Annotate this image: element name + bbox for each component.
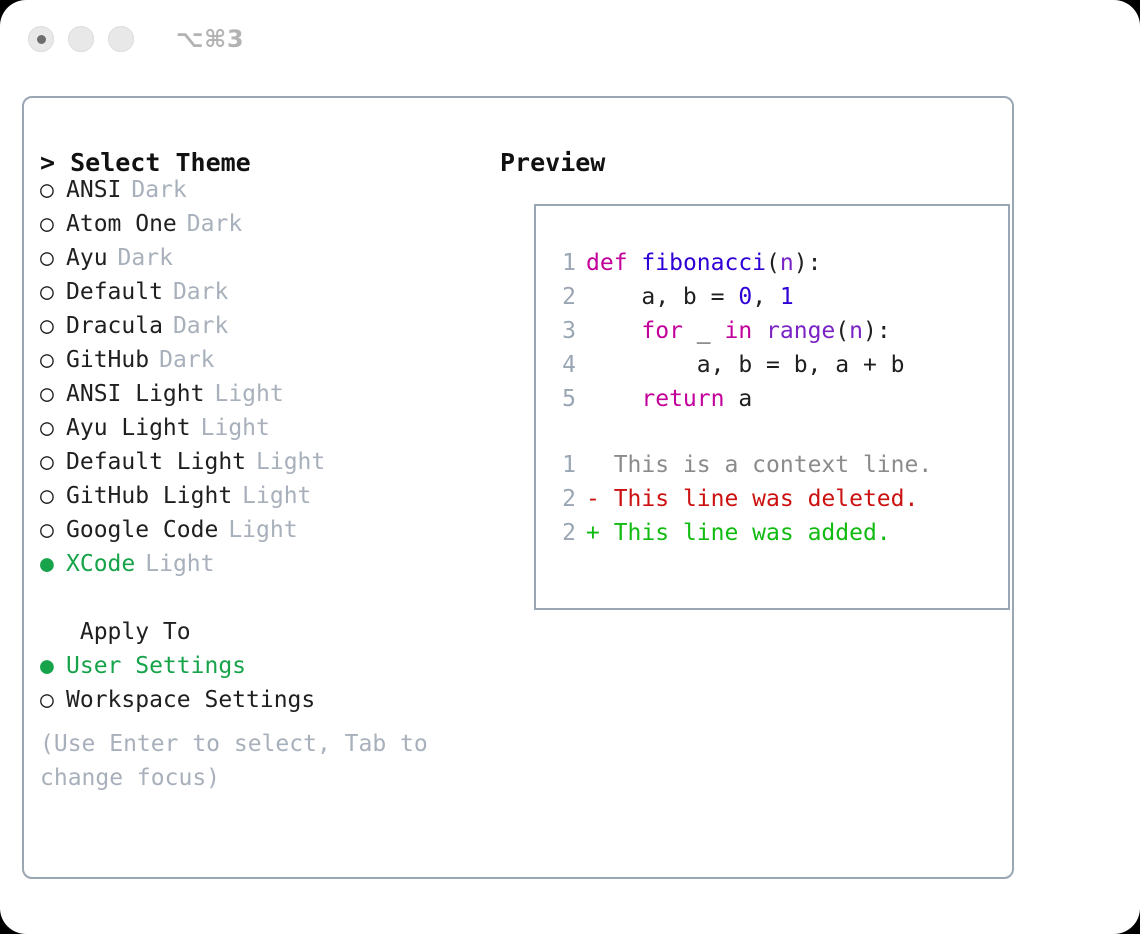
theme-kind-badge: Dark <box>173 279 228 305</box>
radio-selected-icon: ● <box>40 551 66 577</box>
theme-list-item[interactable]: ●XCodeLight <box>40 551 495 585</box>
code-line: 3 for _ in range(n): <box>536 318 1008 352</box>
theme-name: GitHub <box>66 347 149 373</box>
theme-kind-badge: Dark <box>118 245 173 271</box>
preview-pane-title: Preview <box>500 148 1000 177</box>
code-token: fibonacci <box>641 250 766 276</box>
radio-unselected-icon: ○ <box>40 517 66 543</box>
radio-unselected-icon: ○ <box>40 279 66 305</box>
theme-kind-badge: Light <box>242 483 311 509</box>
theme-list-item[interactable]: ○Atom OneDark <box>40 211 495 245</box>
theme-kind-badge: Dark <box>131 177 186 203</box>
code-token: range <box>766 318 835 344</box>
theme-kind-badge: Light <box>214 381 283 407</box>
theme-list-item[interactable]: ○DefaultDark <box>40 279 495 313</box>
theme-list-item[interactable]: ○ANSIDark <box>40 177 495 211</box>
diff-sign <box>586 452 600 478</box>
code-diff-gap <box>536 420 1008 452</box>
line-number: 2 <box>552 520 576 546</box>
theme-name: XCode <box>66 551 135 577</box>
theme-pane-title: > Select Theme <box>40 148 495 177</box>
radio-unselected-icon: ○ <box>40 211 66 237</box>
apply-to-item[interactable]: ●User Settings <box>40 653 495 687</box>
diff-text: This line was added. <box>600 520 891 546</box>
code-token: return <box>641 386 724 412</box>
preview-pane: Preview 1def fibonacci(n):2 a, b = 0, 13… <box>500 148 1000 177</box>
diff-text: This line was deleted. <box>600 486 919 512</box>
code-token: ): <box>794 250 822 276</box>
radio-unselected-icon: ○ <box>40 313 66 339</box>
theme-name: Dracula <box>66 313 163 339</box>
code-token: ( <box>766 250 780 276</box>
app-window: ⌥⌘3 > Select Theme ○ANSIDark○Atom OneDar… <box>0 0 1140 934</box>
code-line: 4 a, b = b, a + b <box>536 352 1008 386</box>
theme-selection-pane: > Select Theme ○ANSIDark○Atom OneDark○Ay… <box>40 148 495 795</box>
code-line: 2 a, b = 0, 1 <box>536 284 1008 318</box>
theme-kind-badge: Light <box>201 415 270 441</box>
line-number: 2 <box>552 284 576 310</box>
title-bar: ⌥⌘3 <box>0 0 1140 78</box>
apply-to-label: User Settings <box>66 653 246 679</box>
theme-name: Atom One <box>66 211 177 237</box>
theme-name: Ayu Light <box>66 415 191 441</box>
radio-unselected-icon: ○ <box>40 687 66 713</box>
radio-unselected-icon: ○ <box>40 245 66 271</box>
radio-unselected-icon: ○ <box>40 415 66 441</box>
code-token: 1 <box>780 284 794 310</box>
code-token <box>586 318 641 344</box>
radio-unselected-icon: ○ <box>40 381 66 407</box>
code-preview: 1def fibonacci(n):2 a, b = 0, 13 for _ i… <box>536 250 1008 420</box>
code-token: ( <box>835 318 849 344</box>
theme-list-item[interactable]: ○Google CodeLight <box>40 517 495 551</box>
window-dot-3[interactable] <box>108 26 134 52</box>
diff-preview: 1 This is a context line.2- This line wa… <box>536 452 1008 554</box>
theme-kind-badge: Dark <box>173 313 228 339</box>
apply-to-title: Apply To <box>40 619 495 653</box>
window-dot-active-inner <box>37 35 46 44</box>
window-dot-2[interactable] <box>68 26 94 52</box>
theme-kind-badge: Light <box>145 551 214 577</box>
main-panel: > Select Theme ○ANSIDark○Atom OneDark○Ay… <box>22 96 1014 879</box>
code-token: n <box>780 250 794 276</box>
theme-list-item[interactable]: ○GitHub LightLight <box>40 483 495 517</box>
code-token: , <box>752 284 780 310</box>
keyboard-hint: (Use Enter to select, Tab to change focu… <box>40 727 460 795</box>
code-token: a, b = <box>586 284 738 310</box>
theme-list-item[interactable]: ○Ayu LightLight <box>40 415 495 449</box>
theme-name: Default <box>66 279 163 305</box>
theme-name: Google Code <box>66 517 218 543</box>
theme-name: ANSI <box>66 177 121 203</box>
theme-list-item[interactable]: ○ANSI LightLight <box>40 381 495 415</box>
line-number: 4 <box>552 352 576 378</box>
theme-name: GitHub Light <box>66 483 232 509</box>
theme-name: ANSI Light <box>66 381 204 407</box>
theme-list-item[interactable]: ○AyuDark <box>40 245 495 279</box>
theme-list-item[interactable]: ○GitHubDark <box>40 347 495 381</box>
diff-line: 2+ This line was added. <box>536 520 1008 554</box>
code-token: ): <box>863 318 891 344</box>
keyboard-shortcut-label: ⌥⌘3 <box>176 25 244 53</box>
theme-name: Default Light <box>66 449 246 475</box>
preview-box: 1def fibonacci(n):2 a, b = 0, 13 for _ i… <box>534 204 1010 610</box>
line-number: 1 <box>552 250 576 276</box>
code-token: n <box>849 318 863 344</box>
code-line: 1def fibonacci(n): <box>536 250 1008 284</box>
radio-unselected-icon: ○ <box>40 483 66 509</box>
theme-kind-badge: Light <box>256 449 325 475</box>
line-number: 3 <box>552 318 576 344</box>
radio-selected-icon: ● <box>40 653 66 679</box>
line-number: 5 <box>552 386 576 412</box>
theme-kind-badge: Dark <box>187 211 242 237</box>
diff-sign: - <box>586 486 600 512</box>
code-line: 5 return a <box>536 386 1008 420</box>
diff-text: This is a context line. <box>600 452 932 478</box>
code-token <box>752 318 766 344</box>
code-token: a <box>724 386 752 412</box>
code-token: in <box>724 318 752 344</box>
apply-to-list: ●User Settings○Workspace Settings <box>40 653 495 721</box>
code-token: 0 <box>738 284 752 310</box>
code-token <box>628 250 642 276</box>
code-token: for <box>641 318 683 344</box>
window-dot-active[interactable] <box>28 26 54 52</box>
list-spacer <box>40 585 495 619</box>
radio-unselected-icon: ○ <box>40 177 66 203</box>
theme-list: ○ANSIDark○Atom OneDark○AyuDark○DefaultDa… <box>40 177 495 585</box>
code-token <box>586 386 641 412</box>
line-number: 1 <box>552 452 576 478</box>
theme-kind-badge: Light <box>228 517 297 543</box>
theme-list-item[interactable]: ○Default LightLight <box>40 449 495 483</box>
apply-to-label: Workspace Settings <box>66 687 315 713</box>
theme-kind-badge: Dark <box>159 347 214 373</box>
code-token: def <box>586 250 628 276</box>
apply-to-item[interactable]: ○Workspace Settings <box>40 687 495 721</box>
radio-unselected-icon: ○ <box>40 347 66 373</box>
theme-name: Ayu <box>66 245 108 271</box>
code-token: a, b = b, a + b <box>586 352 905 378</box>
line-number: 2 <box>552 486 576 512</box>
code-token: _ <box>683 318 725 344</box>
diff-sign: + <box>586 520 600 546</box>
theme-list-item[interactable]: ○DraculaDark <box>40 313 495 347</box>
diff-line: 1 This is a context line. <box>536 452 1008 486</box>
diff-line: 2- This line was deleted. <box>536 486 1008 520</box>
radio-unselected-icon: ○ <box>40 449 66 475</box>
